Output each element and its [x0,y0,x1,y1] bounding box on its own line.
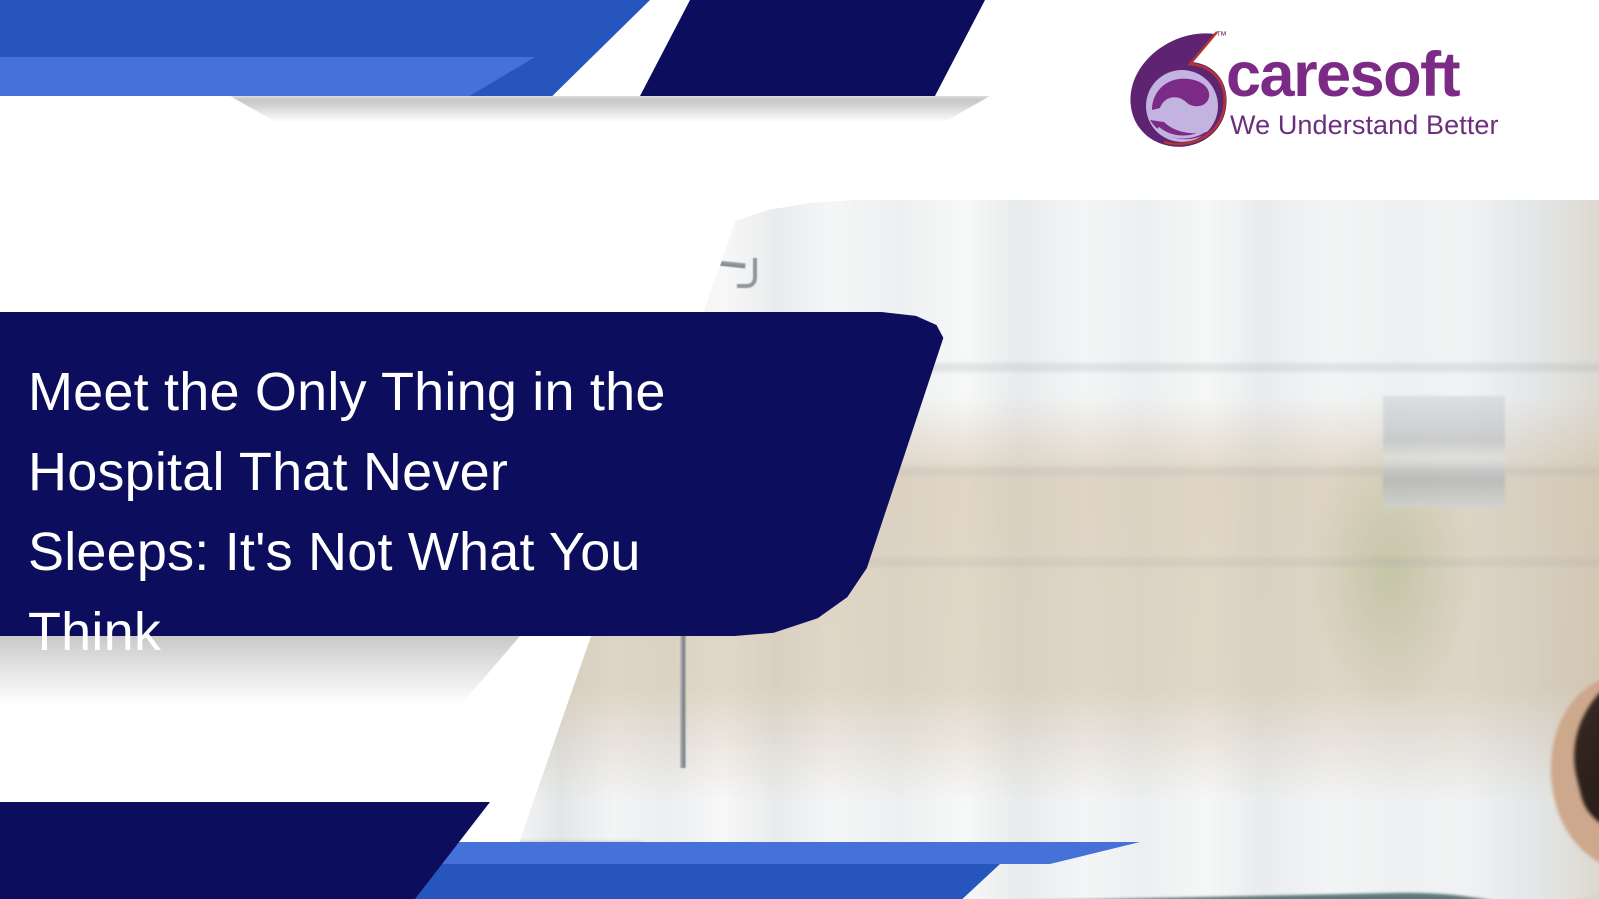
logo-wordmark: caresoft [1226,44,1459,107]
headline-line-2: Hospital That Never [28,442,508,502]
slanted-dash-2 [231,802,246,832]
top-decor-blue-light [0,57,535,96]
slanted-dash-1 [205,802,220,832]
top-decor-navy [640,0,985,96]
headline-line-1: Meet the Only Thing in the [28,362,666,422]
headline-line-4: Think [28,602,161,662]
iv-pole-crossbar [628,251,746,268]
caresoft-logo[interactable]: ™ caresoft We Understand Better [1118,18,1518,148]
slanted-dash-4 [283,802,298,832]
logo-tagline: We Understand Better [1230,110,1499,141]
slanted-dash-group [205,802,300,832]
caresoft-hero-banner: Meet the Only Thing in theHospital That … [0,0,1599,899]
slanted-dash-3 [257,802,272,832]
iv-hook-left-icon [627,243,647,273]
headline-line-3: Sleeps: It's Not What You [28,522,641,582]
top-band-shadow [230,96,990,122]
iv-hook-right-icon [737,258,757,288]
caresoft-swirl-icon [1118,24,1238,149]
page-title: Meet the Only Thing in theHospital That … [28,352,908,672]
